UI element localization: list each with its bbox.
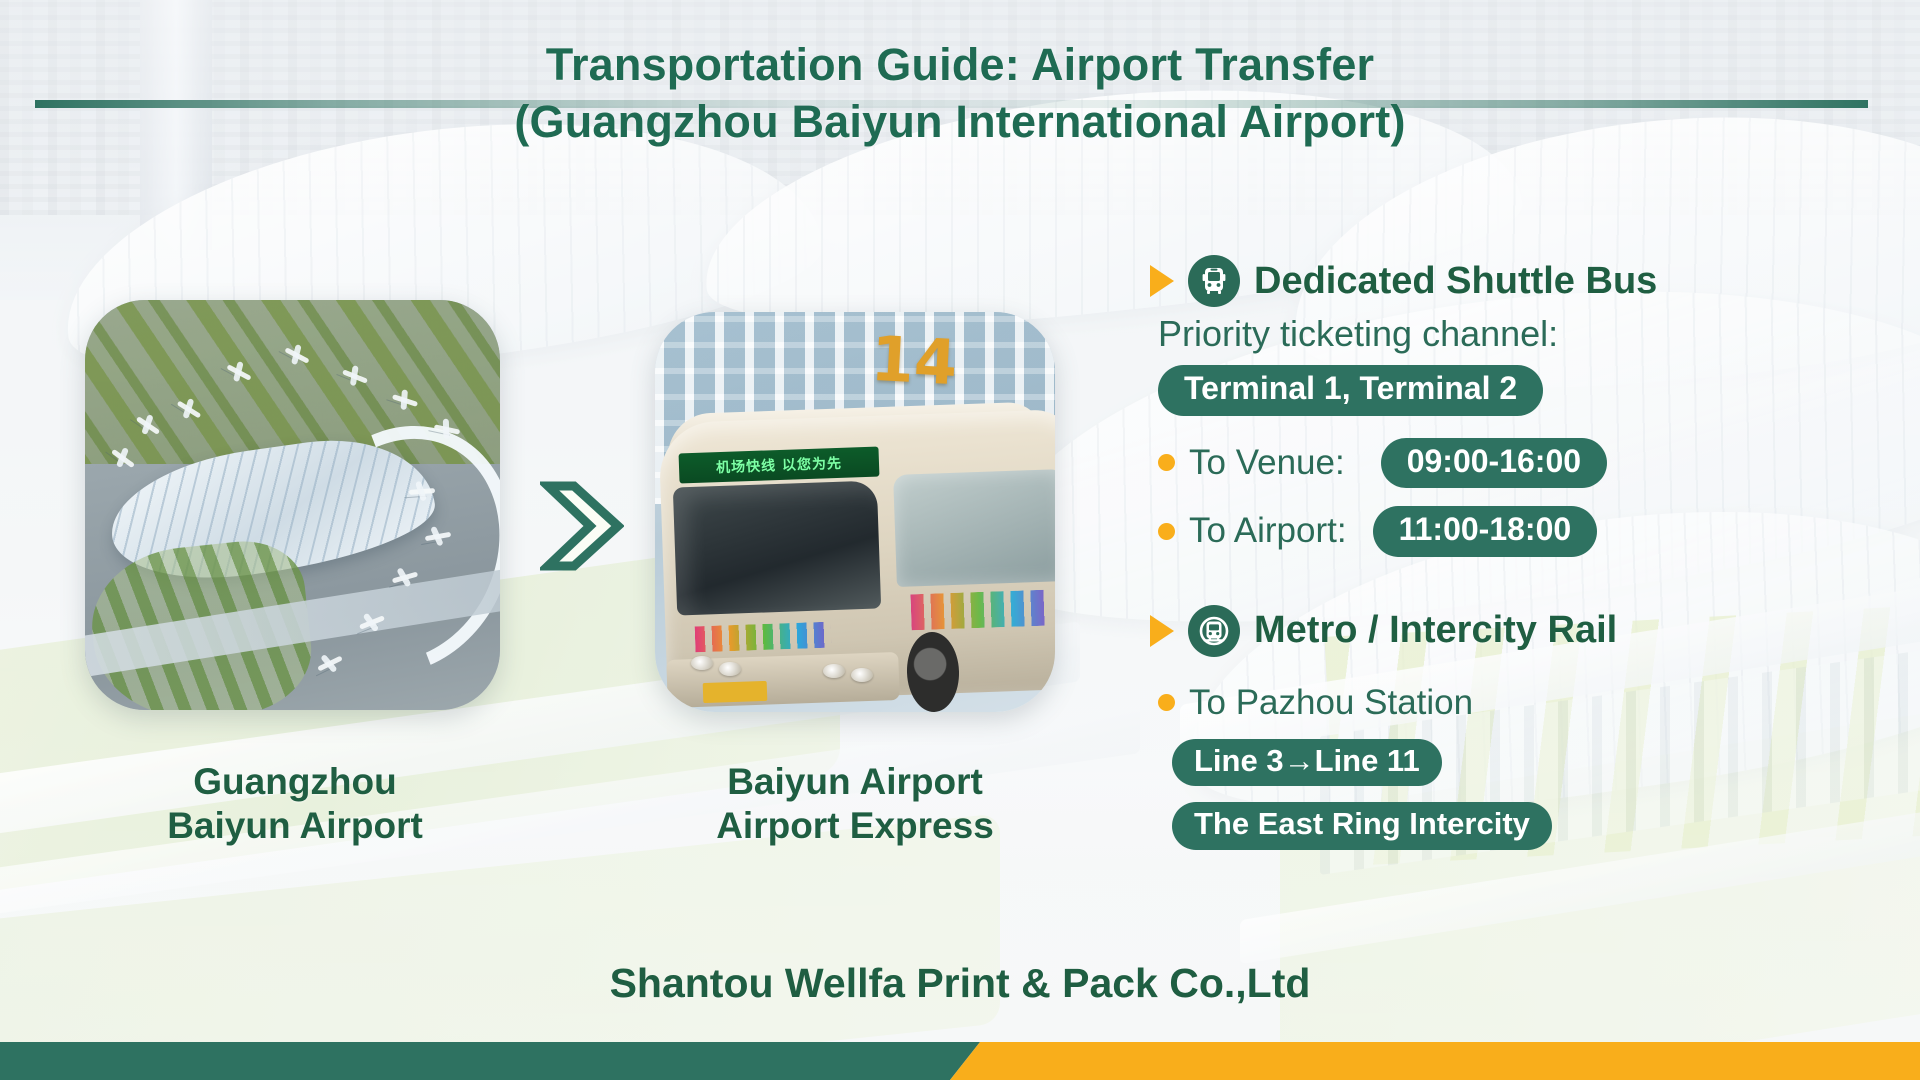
terminal-pill: Terminal 1, Terminal 2 <box>1158 365 1543 416</box>
metro-icon <box>1188 605 1240 657</box>
footer-bar-orange-segment <box>950 1042 1920 1080</box>
to-venue-time-pill: 09:00-16:00 <box>1381 438 1607 489</box>
bullet-dot-icon <box>1158 694 1175 711</box>
airport-aerial-image <box>85 300 500 710</box>
bus-photo-image: 14 机场快线 以您为先 <box>655 312 1055 712</box>
section-header-shuttle-bus: Dedicated Shuttle Bus <box>1150 255 1910 307</box>
page-title: Transportation Guide: Airport Transfer (… <box>0 36 1920 150</box>
metro-line-pill: Line 3→Line 11 <box>1172 739 1442 787</box>
company-name: Shantou Wellfa Print & Pack Co.,Ltd <box>0 960 1920 1007</box>
footer-bar-green-segment <box>0 1042 980 1080</box>
section-header-metro-rail: Metro / Intercity Rail <box>1150 605 1910 657</box>
bus-headlamp <box>719 662 741 676</box>
bullet-dot-icon <box>1158 523 1175 540</box>
bus-headlamp <box>823 664 845 678</box>
bus-windshield <box>673 480 881 615</box>
priority-ticketing-subtitle: Priority ticketing channel: <box>1158 313 1910 355</box>
title-line-1: Transportation Guide: Airport Transfer <box>0 36 1920 93</box>
airport-caption-line-1: Guangzhou <box>60 760 530 804</box>
airport-caption-line-2: Baiyun Airport <box>60 804 530 848</box>
to-airport-time-pill: 11:00-18:00 <box>1373 506 1598 557</box>
airport-photo-caption: Guangzhou Baiyun Airport <box>60 760 530 848</box>
chevron-right-icon <box>540 480 624 572</box>
bus-photo-caption: Baiyun Airport Airport Express <box>600 760 1110 848</box>
bus-front-livery-text <box>695 622 832 653</box>
destination-row-pazhou: To Pazhou Station <box>1158 683 1910 723</box>
section-title-metro-rail: Metro / Intercity Rail <box>1254 609 1617 652</box>
bus-livery-text <box>910 590 1047 631</box>
schedule-row-to-airport: To Airport: 11:00-18:00 <box>1158 506 1910 557</box>
triangle-bullet-icon <box>1150 265 1174 297</box>
to-airport-label: To Airport: <box>1189 511 1347 551</box>
footer-bar <box>0 1042 1920 1080</box>
bullet-dot-icon <box>1158 454 1175 471</box>
triangle-bullet-icon <box>1150 615 1174 647</box>
title-line-2: (Guangzhou Baiyun International Airport) <box>0 93 1920 150</box>
intercity-rail-pill: The East Ring Intercity <box>1172 802 1552 850</box>
bus-caption-line-2: Airport Express <box>600 804 1110 848</box>
bus-headlamp <box>851 668 873 682</box>
bus-headlamp <box>691 656 713 670</box>
bus-license-plate <box>703 681 768 703</box>
bus-caption-line-1: Baiyun Airport <box>600 760 1110 804</box>
to-venue-label: To Venue: <box>1189 443 1345 483</box>
gate-number-label: 14 <box>869 322 959 399</box>
shuttle-bus-photo-card: 14 机场快线 以您为先 <box>655 312 1055 712</box>
transport-info-panel: Dedicated Shuttle Bus Priority ticketing… <box>1150 255 1910 850</box>
airport-photo-card <box>85 300 500 710</box>
section-title-shuttle-bus: Dedicated Shuttle Bus <box>1254 260 1657 303</box>
schedule-row-to-venue: To Venue: 09:00-16:00 <box>1158 438 1910 489</box>
bus-side-windows <box>893 469 1055 587</box>
bus-icon <box>1188 255 1240 307</box>
pazhou-station-label: To Pazhou Station <box>1189 683 1473 723</box>
parked-aircraft-group <box>85 300 500 710</box>
